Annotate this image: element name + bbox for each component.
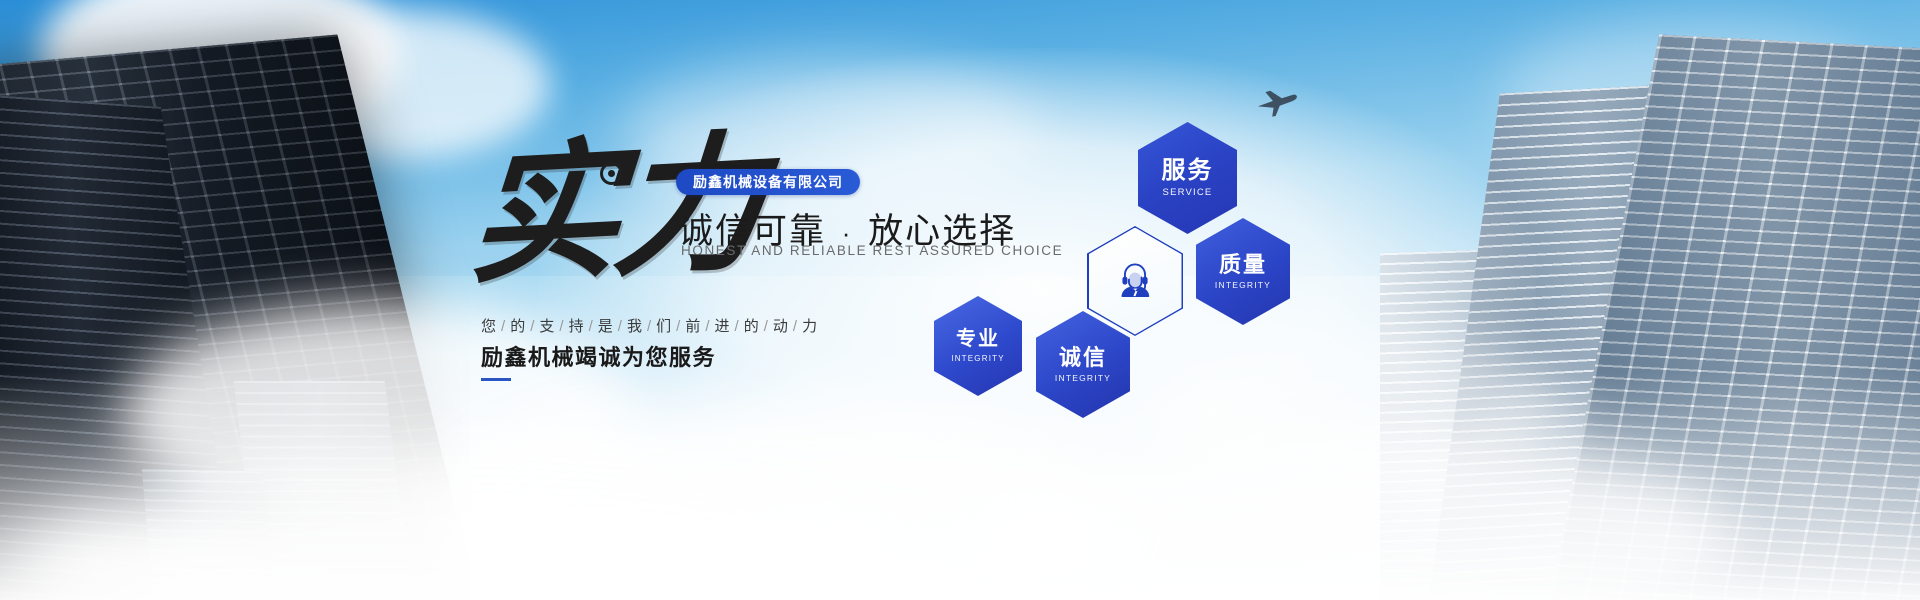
hexagon-label-cn: 专业 (956, 329, 1000, 350)
hexagon-label-cn: 质量 (1219, 253, 1267, 276)
hero-banner: 实力 励鑫机械设备有限公司 诚信可靠 · 放心选择 HONEST AND REL… (0, 0, 1920, 600)
hexagon-label-cn: 服务 (1162, 158, 1214, 183)
hexagon-label-cn: 诚信 (1059, 346, 1107, 369)
hexagon-label-en: INTEGRITY (951, 354, 1004, 363)
customer-service-agent-icon (1087, 226, 1183, 336)
hexagon-professional: 专业 INTEGRITY (934, 296, 1022, 396)
hexagon-label-en: INTEGRITY (1055, 373, 1111, 383)
hexagon-service: 服务 SERVICE (1138, 122, 1237, 234)
hexagon-quality: 质量 INTEGRITY (1196, 218, 1290, 325)
hexagon-label-en: INTEGRITY (1215, 280, 1271, 290)
hexagon-group: 服务 SERVICE 质量 INTEGRITY 诚信 INTEGRITY 专业 … (0, 0, 1920, 600)
hexagon-label-en: SERVICE (1163, 187, 1213, 198)
